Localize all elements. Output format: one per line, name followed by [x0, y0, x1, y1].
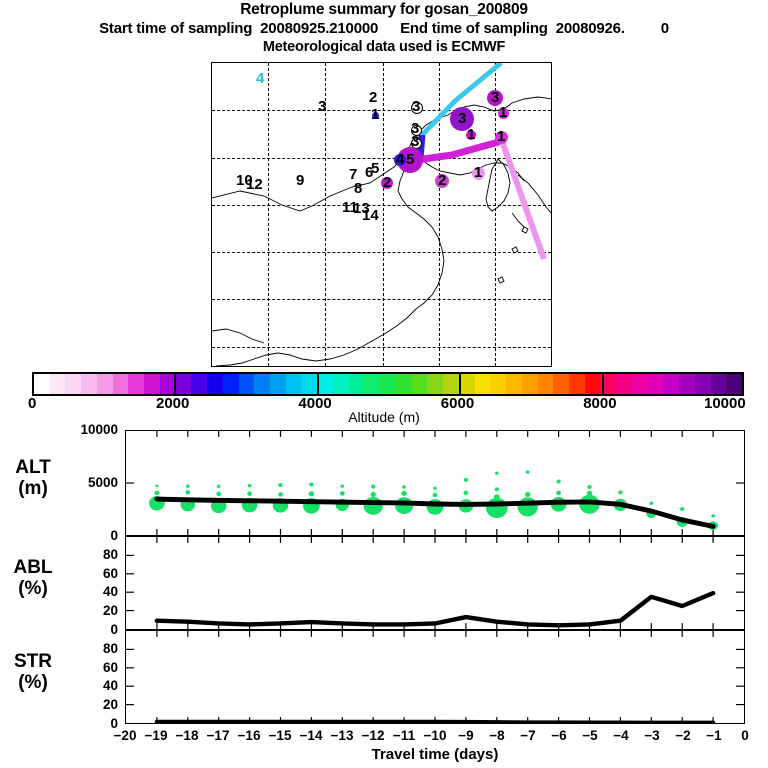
y-axis-tick-label: 0 [58, 623, 118, 637]
colorbar-segment [538, 374, 554, 394]
colorbar-segment [553, 374, 569, 394]
end-time-label: End time of sampling [400, 20, 548, 37]
colorbar-segment [191, 374, 207, 394]
colorbar-segment [144, 374, 160, 394]
map-cluster-label: 5 [406, 152, 414, 167]
y-axis-tick-label: 10000 [58, 423, 118, 437]
colorbar-segment [176, 374, 192, 394]
map-cluster-label: 8 [354, 181, 362, 196]
colorbar-gradient [32, 372, 744, 396]
colorbar-segment [254, 374, 270, 394]
colorbar-segment [569, 374, 585, 394]
colorbar-segment [270, 374, 286, 394]
y-axis-tick-label: 40 [58, 679, 118, 693]
x-axis-title: Travel time (days) [125, 746, 745, 763]
colorbar-segment [443, 374, 459, 394]
map-cluster-label: 2 [369, 90, 377, 105]
map-cluster-label: 3 [458, 111, 466, 126]
colorbar-segment [427, 374, 443, 394]
map-cluster-label: 3 [491, 90, 499, 105]
colorbar-segment [632, 374, 648, 394]
panel-str[interactable] [125, 630, 745, 724]
map-cluster-label: 2 [438, 173, 446, 188]
colorbar-segment [695, 374, 711, 394]
x-axis-tick-label: 0 [725, 728, 765, 743]
panel-row-label: ABL [6, 557, 60, 578]
colorbar-segment [65, 374, 81, 394]
colorbar-segment [286, 374, 302, 394]
map-cluster-label: 1 [499, 105, 507, 120]
map-cluster-label: 1 [371, 107, 379, 122]
panel-row-label: STR [6, 651, 60, 672]
map-cluster-label: 14 [362, 208, 379, 223]
colorbar-segment [663, 374, 679, 394]
colorbar-segment [364, 374, 380, 394]
map-cluster-label: 1 [497, 129, 505, 144]
colorbar-segment [711, 374, 727, 394]
y-axis-tick-label: 20 [58, 604, 118, 618]
panel-row-units: (m) [6, 478, 60, 499]
map-cluster-label: 3 [412, 99, 420, 114]
colorbar-segment [459, 374, 475, 394]
y-axis-tick-label: 5000 [58, 476, 118, 490]
colorbar-segment [223, 374, 239, 394]
colorbar-segment [239, 374, 255, 394]
colorbar-segment [506, 374, 522, 394]
end-time-value-suffix: 0 [661, 20, 669, 37]
map-cluster-label: 2 [383, 175, 391, 190]
colorbar-segment [585, 374, 601, 394]
sampling-times: Start time of sampling 20080925.210000 E… [0, 19, 768, 38]
y-axis-tick-label: 80 [58, 642, 118, 656]
colorbar-segment [317, 374, 333, 394]
map-cluster-label: 4 [396, 152, 404, 167]
map-cluster-label: 12 [246, 177, 263, 192]
colorbar-segment [50, 374, 66, 394]
y-axis-tick-label: 40 [58, 585, 118, 599]
colorbar-segment [97, 374, 113, 394]
str-plot-area [126, 631, 744, 723]
panel-alt[interactable] [125, 430, 745, 536]
map-cluster-label: 1 [474, 165, 482, 180]
map-cluster-label: 1 [467, 127, 475, 142]
colorbar-segment [160, 374, 176, 394]
retroplume-map[interactable]: 43213333354122111101297658111314 [211, 62, 552, 367]
map-cluster-label: 3 [318, 99, 326, 114]
panel-abl[interactable] [125, 536, 745, 630]
colorbar[interactable] [32, 372, 744, 396]
colorbar-segment [648, 374, 664, 394]
y-axis-tick-label: 80 [58, 548, 118, 562]
met-data-line: Meteorological data used is ECMWF [0, 38, 768, 56]
colorbar-segment [396, 374, 412, 394]
colorbar-major-divider [602, 372, 604, 396]
colorbar-segment [207, 374, 223, 394]
colorbar-segment [301, 374, 317, 394]
panel-row-label: ALT [6, 457, 60, 478]
map-cluster-label: 5 [371, 161, 379, 176]
colorbar-segment [81, 374, 97, 394]
alt-plot-area [126, 431, 744, 535]
colorbar-segment [522, 374, 538, 394]
y-axis-tick-label: 0 [58, 529, 118, 543]
colorbar-segment [679, 374, 695, 394]
colorbar-segment [34, 374, 50, 394]
colorbar-major-divider [459, 372, 461, 396]
colorbar-segment [333, 374, 349, 394]
start-time-value: 20080925.210000 [260, 20, 378, 37]
page-title: Retroplume summary for gosan_200809 [0, 0, 768, 19]
colorbar-segment [412, 374, 428, 394]
y-axis-tick-label: 60 [58, 661, 118, 675]
colorbar-segment [616, 374, 632, 394]
colorbar-segment [726, 374, 742, 394]
panel-row-units: (%) [6, 672, 60, 693]
map-cluster-label: 9 [296, 173, 304, 188]
end-time-value: 20080926. [556, 20, 625, 37]
start-time-label: Start time of sampling [99, 20, 252, 37]
colorbar-segment [475, 374, 491, 394]
colorbar-major-divider [174, 372, 176, 396]
header: Retroplume summary for gosan_200809 Star… [0, 0, 768, 56]
colorbar-major-divider [317, 372, 319, 396]
colorbar-segment [349, 374, 365, 394]
abl-plot-area [126, 537, 744, 629]
panel-row-units: (%) [6, 578, 60, 599]
colorbar-segment [128, 374, 144, 394]
y-axis-tick-label: 60 [58, 567, 118, 581]
y-axis-tick-label: 20 [58, 698, 118, 712]
colorbar-segment [380, 374, 396, 394]
map-cluster-label: 4 [256, 71, 264, 86]
colorbar-segment [490, 374, 506, 394]
colorbar-segment [113, 374, 129, 394]
